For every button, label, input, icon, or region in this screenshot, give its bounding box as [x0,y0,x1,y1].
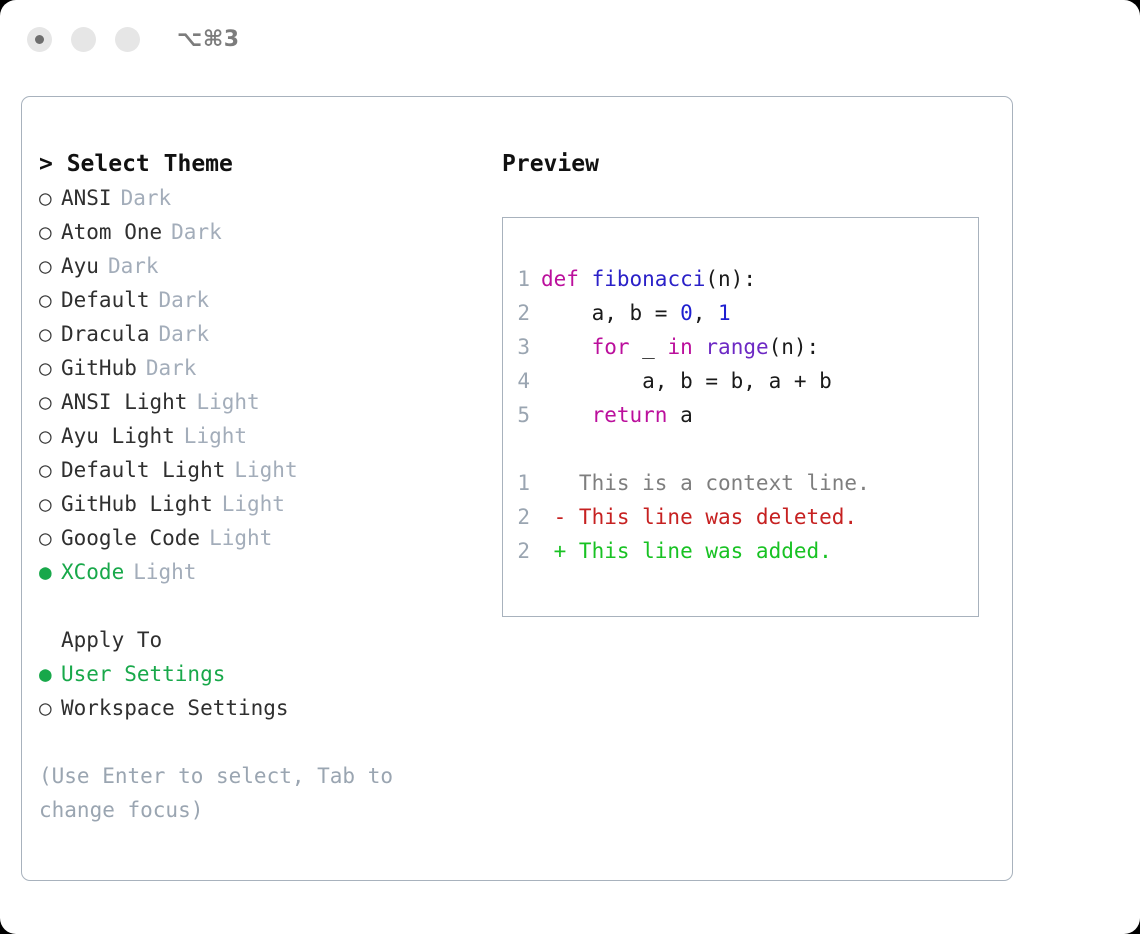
code-token-plain [541,335,592,359]
radio-selected-icon: ● [39,657,61,691]
keyboard-hint-line-2: change focus) [39,793,449,827]
apply-to-heading-marker: ○ [39,623,61,657]
main-card: > Select Theme ○ANSIDark○Atom OneDark○Ay… [21,96,1013,881]
code-line-content: a, b = b, a + b [541,364,832,398]
code-line-number: 1 [503,262,541,296]
diff-line-content: This is a context line. [541,466,870,500]
theme-variant-tag: Dark [146,351,197,385]
theme-option-atom-one[interactable]: ○Atom OneDark [39,215,469,249]
keyboard-hint-line-1: (Use Enter to select, Tab to [39,759,449,793]
theme-option-label: ANSI Light [61,385,187,419]
radio-unselected-icon: ○ [39,691,61,725]
code-token-kw: in [667,335,692,359]
apply-to-heading-label: Apply To [61,623,162,657]
theme-option-label: GitHub [61,351,137,385]
code-token-plain: a, b = [541,301,680,325]
theme-option-label: Ayu [61,249,99,283]
theme-variant-tag: Light [196,385,259,419]
select-theme-heading: > Select Theme [39,147,469,181]
diff-line-ctx: 1 This is a context line. [503,466,978,500]
theme-option-dracula[interactable]: ○DraculaDark [39,317,469,351]
theme-option-label: Ayu Light [61,419,175,453]
theme-option-github-light[interactable]: ○GitHub LightLight [39,487,469,521]
theme-variant-tag: Light [133,555,196,589]
apply-to-option-list: ●User Settings○Workspace Settings [39,657,469,725]
theme-variant-tag: Light [234,453,297,487]
apply-to-option-label: Workspace Settings [61,691,289,725]
theme-variant-tag: Dark [121,181,172,215]
theme-option-ayu-light[interactable]: ○Ayu LightLight [39,419,469,453]
code-line-content: a, b = 0, 1 [541,296,731,330]
theme-option-label: Default Light [61,453,225,487]
radio-unselected-icon: ○ [39,215,61,249]
preview-heading: Preview [502,147,992,181]
theme-option-ansi-light[interactable]: ○ANSI LightLight [39,385,469,419]
radio-unselected-icon: ○ [39,181,61,215]
theme-variant-tag: Dark [159,317,210,351]
code-token-kw: for [592,335,630,359]
code-token-plain [541,403,592,427]
theme-variant-tag: Light [184,419,247,453]
radio-unselected-icon: ○ [39,419,61,453]
radio-unselected-icon: ○ [39,317,61,351]
radio-unselected-icon: ○ [39,487,61,521]
code-line-number: 5 [503,398,541,432]
apply-to-option-workspace-settings[interactable]: ○Workspace Settings [39,691,469,725]
theme-option-label: Google Code [61,521,200,555]
code-token-plain [693,335,706,359]
diff-line-content: + This line was added. [541,534,832,568]
code-token-plain [579,267,592,291]
code-token-kw: return [592,403,668,427]
app-window: ⌥⌘3 > Select Theme ○ANSIDark○Atom OneDar… [0,0,1140,934]
theme-option-ayu[interactable]: ○AyuDark [39,249,469,283]
theme-variant-tag: Light [222,487,285,521]
window-dot-third[interactable] [115,27,140,52]
code-line-number: 3 [503,330,541,364]
theme-option-label: Atom One [61,215,162,249]
radio-unselected-icon: ○ [39,521,61,555]
theme-option-label: ANSI [61,181,112,215]
theme-variant-tag: Light [209,521,272,555]
code-token-plain: , [693,301,718,325]
theme-option-label: Dracula [61,317,150,351]
radio-unselected-icon: ○ [39,351,61,385]
apply-to-option-label: User Settings [61,657,225,691]
theme-option-google-code[interactable]: ○Google CodeLight [39,521,469,555]
radio-unselected-icon: ○ [39,283,61,317]
keyboard-shortcut-label: ⌥⌘3 [177,27,240,52]
radio-unselected-icon: ○ [39,453,61,487]
dot-indicator-icon [35,35,44,44]
radio-unselected-icon: ○ [39,385,61,419]
diff-sample: 1 This is a context line.2 - This line w… [503,466,978,568]
code-line: 2 a, b = 0, 1 [503,296,978,330]
apply-to-heading-row: ○ Apply To [39,623,469,657]
theme-variant-tag: Dark [159,283,210,317]
preview-code-box: 1def fibonacci(n):2 a, b = 0, 13 for _ i… [502,217,979,617]
theme-option-github[interactable]: ○GitHubDark [39,351,469,385]
theme-option-xcode[interactable]: ●XCodeLight [39,555,469,589]
code-token-kw: def [541,267,579,291]
diff-line-number: 2 [503,534,541,568]
theme-selector-panel: > Select Theme ○ANSIDark○Atom OneDark○Ay… [39,147,469,827]
radio-selected-icon: ● [39,555,61,589]
theme-option-ansi[interactable]: ○ANSIDark [39,181,469,215]
theme-variant-tag: Dark [108,249,159,283]
code-line-number: 2 [503,296,541,330]
code-token-plain: a, b = b, a + b [541,369,832,393]
diff-line-add: 2 + This line was added. [503,534,978,568]
theme-option-list: ○ANSIDark○Atom OneDark○AyuDark○DefaultDa… [39,181,469,589]
keyboard-hint: (Use Enter to select, Tab to change focu… [39,759,449,827]
code-token-bi: range [705,335,768,359]
titlebar: ⌥⌘3 [0,0,1140,78]
layout-spacer [39,589,469,623]
code-token-plain: (n): [705,267,756,291]
code-token-num: 0 [680,301,693,325]
theme-variant-tag: Dark [171,215,222,249]
code-line-content: return a [541,398,693,432]
theme-option-label: XCode [61,555,124,589]
code-token-plain: a [667,403,692,427]
diff-line-number: 1 [503,466,541,500]
code-line: 5 return a [503,398,978,432]
code-token-num: 1 [718,301,731,325]
diff-line-number: 2 [503,500,541,534]
theme-option-default-light[interactable]: ○Default LightLight [39,453,469,487]
code-token-plain: (n): [769,335,820,359]
code-line-content: for _ in range(n): [541,330,819,364]
window-controls [27,27,140,52]
theme-option-label: GitHub Light [61,487,213,521]
theme-option-label: Default [61,283,150,317]
diff-line-del: 2 - This line was deleted. [503,500,978,534]
code-sample: 1def fibonacci(n):2 a, b = 0, 13 for _ i… [503,262,978,432]
radio-unselected-icon: ○ [39,249,61,283]
diff-spacer [503,432,978,466]
diff-line-content: - This line was deleted. [541,500,857,534]
code-line-number: 4 [503,364,541,398]
code-line: 4 a, b = b, a + b [503,364,978,398]
code-line-content: def fibonacci(n): [541,262,756,296]
window-dot-second[interactable] [71,27,96,52]
theme-option-default[interactable]: ○DefaultDark [39,283,469,317]
preview-panel: Preview 1def fibonacci(n):2 a, b = 0, 13… [502,147,992,617]
code-token-plain: _ [630,335,668,359]
apply-to-option-user-settings[interactable]: ●User Settings [39,657,469,691]
code-line: 3 for _ in range(n): [503,330,978,364]
code-line: 1def fibonacci(n): [503,262,978,296]
window-dot-active[interactable] [27,27,52,52]
code-token-fn: fibonacci [592,267,706,291]
